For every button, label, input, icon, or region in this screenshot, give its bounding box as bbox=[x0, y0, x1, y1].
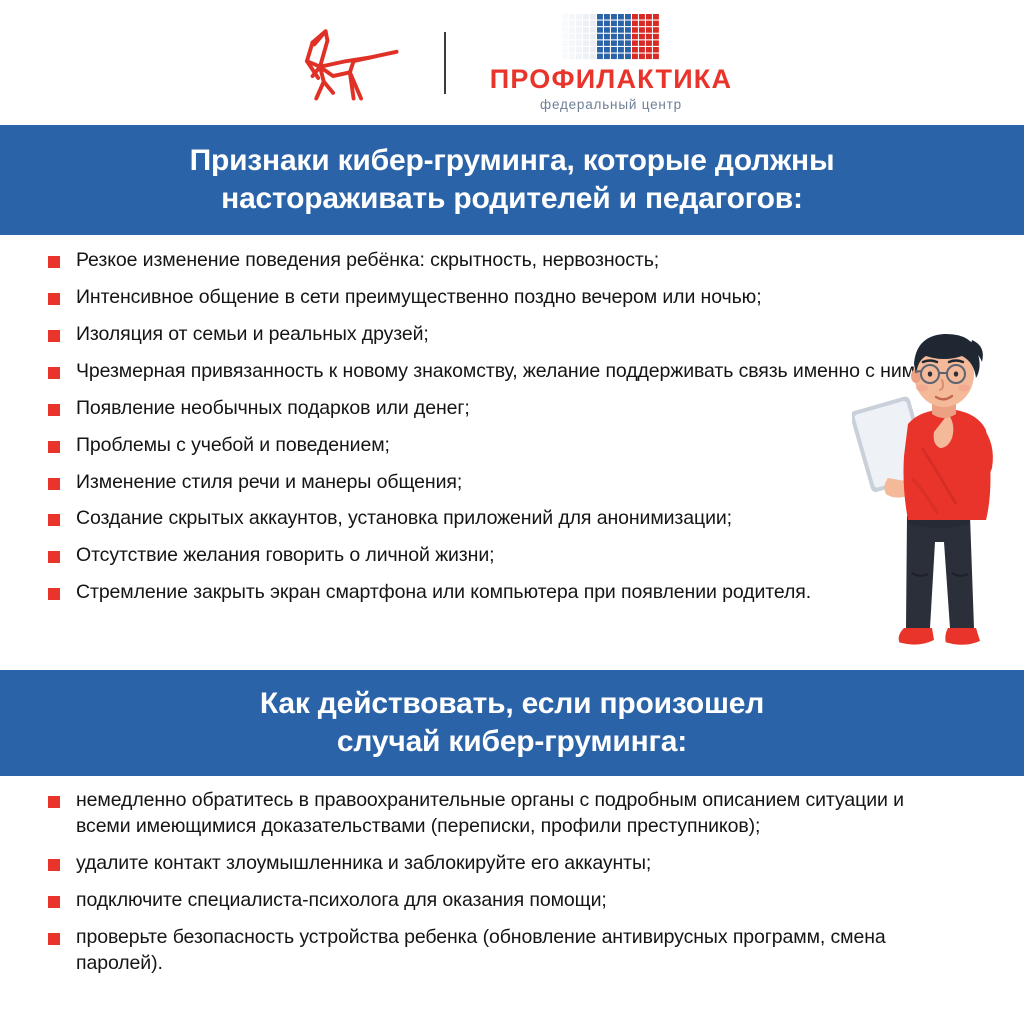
list-item: Изоляция от семьи и реальных друзей; bbox=[48, 322, 948, 348]
list-item-text: Стремление закрыть экран смартфона или к… bbox=[76, 580, 811, 606]
list-item: проверьте безопасность устройства ребенк… bbox=[48, 925, 948, 977]
flag-grid-icon bbox=[562, 14, 660, 60]
bullet-square-icon bbox=[48, 367, 60, 379]
list-item-text: Проблемы с учебой и поведением; bbox=[76, 433, 390, 459]
brand-subtitle: федеральный центр bbox=[540, 98, 682, 112]
bullet-square-icon bbox=[48, 551, 60, 563]
bullet-square-icon bbox=[48, 933, 60, 945]
list-item: Создание скрытых аккаунтов, установка пр… bbox=[48, 506, 948, 532]
list-item: Стремление закрыть экран смартфона или к… bbox=[48, 580, 948, 606]
brand-name: ПРОФИЛАКТИКА bbox=[490, 66, 732, 93]
thoughtful-teen-with-tablet-illustration bbox=[852, 328, 1022, 676]
bullet-square-icon bbox=[48, 256, 60, 268]
section-two-heading-line-1: Как действовать, если произошел bbox=[260, 685, 764, 723]
list-item: Отсутствие желания говорить о личной жиз… bbox=[48, 543, 948, 569]
list-item-text: Появление необычных подарков или денег; bbox=[76, 396, 470, 422]
list-item-text: Чрезмерная привязанность к новому знаком… bbox=[76, 359, 920, 385]
section-one-heading-line-1: Признаки кибер-груминга, которые должны bbox=[190, 142, 835, 180]
bullet-square-icon bbox=[48, 514, 60, 526]
list-item-text: Резкое изменение поведения ребёнка: скры… bbox=[76, 248, 659, 274]
list-item: подключите специалиста-психолога для ока… bbox=[48, 888, 948, 914]
bullet-square-icon bbox=[48, 859, 60, 871]
list-item-text: Отсутствие желания говорить о личной жиз… bbox=[76, 543, 494, 569]
list-item: удалите контакт злоумышленника и заблоки… bbox=[48, 851, 948, 877]
brand-lockup: ПРОФИЛАКТИКА федеральный центр bbox=[490, 14, 732, 112]
section-two-heading-line-2: случай кибер-груминга: bbox=[337, 723, 687, 761]
logo-divider bbox=[444, 32, 446, 94]
section-two-heading-band: Как действовать, если произошел случай к… bbox=[0, 670, 1024, 776]
list-item: Чрезмерная привязанность к новому знаком… bbox=[48, 359, 948, 385]
list-item: немедленно обратитесь в правоохранительн… bbox=[48, 788, 948, 840]
bullet-square-icon bbox=[48, 330, 60, 342]
list-item: Интенсивное общение в сети преимуществен… bbox=[48, 285, 948, 311]
bullet-square-icon bbox=[48, 441, 60, 453]
list-item-text: Интенсивное общение в сети преимуществен… bbox=[76, 285, 762, 311]
bullet-square-icon bbox=[48, 293, 60, 305]
list-item: Резкое изменение поведения ребёнка: скры… bbox=[48, 248, 948, 274]
list-item: Проблемы с учебой и поведением; bbox=[48, 433, 948, 459]
list-item-text: Создание скрытых аккаунтов, установка пр… bbox=[76, 506, 732, 532]
section-one-heading-band: Признаки кибер-груминга, которые должны … bbox=[0, 125, 1024, 235]
section-one-heading-line-2: настораживать родителей и педагогов: bbox=[221, 180, 803, 218]
list-item-text: Изменение стиля речи и манеры общения; bbox=[76, 470, 462, 496]
infographic-poster: ПРОФИЛАКТИКА федеральный центр Признаки … bbox=[0, 0, 1024, 1024]
bullet-square-icon bbox=[48, 404, 60, 416]
list-item-text: удалите контакт злоумышленника и заблоки… bbox=[76, 851, 651, 877]
list-item-text: немедленно обратитесь в правоохранительн… bbox=[76, 788, 921, 840]
bullet-square-icon bbox=[48, 478, 60, 490]
action-steps-list: немедленно обратитесь в правоохранительн… bbox=[48, 788, 948, 988]
stylized-red-horse-line-drawing-icon bbox=[292, 20, 404, 106]
bullet-square-icon bbox=[48, 796, 60, 808]
list-item-text: проверьте безопасность устройства ребенк… bbox=[76, 925, 921, 977]
list-item-text: подключите специалиста-психолога для ока… bbox=[76, 888, 607, 914]
warning-signs-list: Резкое изменение поведения ребёнка: скры… bbox=[48, 248, 948, 617]
list-item-text: Изоляция от семьи и реальных друзей; bbox=[76, 322, 429, 348]
bullet-square-icon bbox=[48, 588, 60, 600]
bullet-square-icon bbox=[48, 896, 60, 908]
list-item: Появление необычных подарков или денег; bbox=[48, 396, 948, 422]
list-item: Изменение стиля речи и манеры общения; bbox=[48, 470, 948, 496]
brand-header: ПРОФИЛАКТИКА федеральный центр bbox=[0, 0, 1024, 125]
